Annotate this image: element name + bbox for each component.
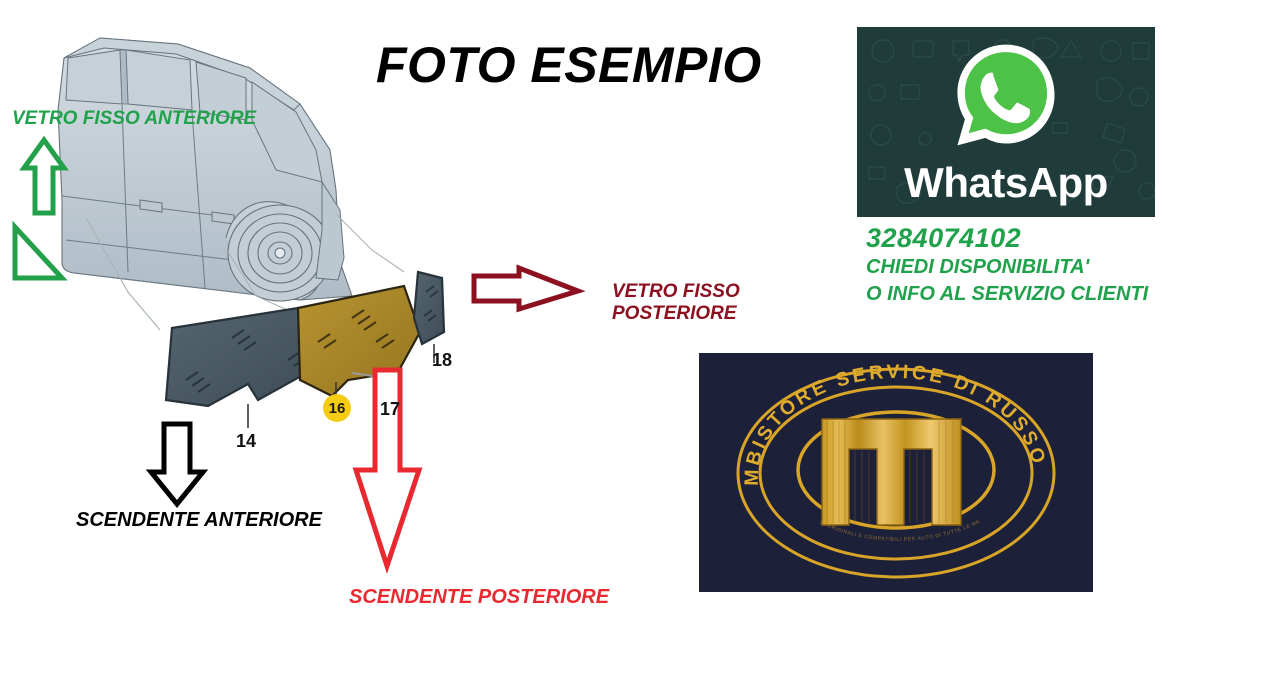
part-number-17: 17 [380,399,400,420]
label-vetro-fisso-anteriore: VETRO FISSO ANTERIORE [12,108,256,130]
part-number-14: 14 [236,431,256,452]
shop-logo-banner: MRICAMBISTORE SERVICE DI RUSSO MARCO RIC… [699,353,1093,592]
part-16-rear-drop-glass [298,286,420,396]
part-14-front-drop-glass [166,308,312,428]
contact-phone-number[interactable]: 3284074102 [866,224,1148,254]
contact-line-2: O INFO AL SERVIZIO CLIENTI [866,281,1148,308]
car-front-door-window [66,50,122,104]
label-vetro-fisso-posteriore: VETRO FISSO POSTERIORE [612,281,740,325]
part-number-18: 18 [432,350,452,371]
part-number-badge-16: 16 [323,394,351,422]
car-rear-door-window [126,50,192,110]
contact-block: 3284074102 CHIEDI DISPONIBILITA' O INFO … [866,224,1148,308]
screenshot-canvas: 14 16 17 18 FOTO ESEMPIO VETRO FISSO ANT… [0,0,1264,678]
whatsapp-wordmark: WhatsApp [857,159,1155,207]
shop-logo-icon: MRICAMBISTORE SERVICE DI RUSSO MARCO RIC… [699,353,1093,592]
page-title: FOTO ESEMPIO [376,36,762,94]
contact-line-1: CHIEDI DISPONIBILITA' [866,254,1148,281]
whatsapp-banner: WhatsApp [857,27,1155,217]
label-vetro-fisso-posteriore-line1: VETRO FISSO [612,281,740,303]
label-vetro-fisso-posteriore-line2: POSTERIORE [612,303,740,325]
label-scendente-posteriore: SCENDENTE POSTERIORE [349,586,609,609]
shop-logo-monogram [822,419,961,525]
whatsapp-icon [950,39,1062,151]
label-scendente-anteriore: SCENDENTE ANTERIORE [76,509,322,532]
